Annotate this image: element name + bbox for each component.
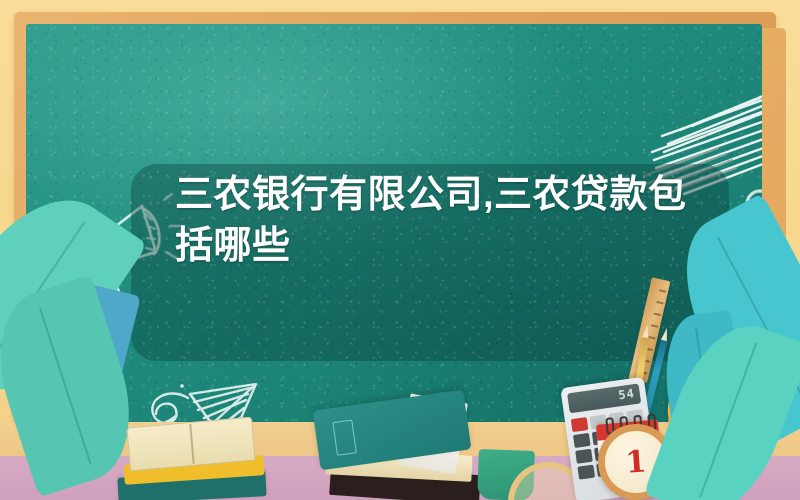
ruler-tick <box>659 289 666 292</box>
leaf-vein <box>699 342 757 497</box>
image-canvas: 三农银行有限公司,三农贷款包括哪些 54 <box>0 0 800 500</box>
calculator-key <box>571 417 588 432</box>
calculator-screen: 54 <box>567 383 641 413</box>
calculator-key <box>575 449 592 464</box>
calculator-key <box>573 433 590 448</box>
ruler-tick <box>654 313 661 316</box>
leaf-vein <box>39 307 91 464</box>
calculator-key <box>577 465 594 480</box>
ruler-tick <box>656 301 663 304</box>
ruler-tick <box>651 324 658 327</box>
calculator-display-value: 54 <box>617 386 635 402</box>
page-title: 三农银行有限公司,三农贷款包括哪些 <box>175 170 695 272</box>
